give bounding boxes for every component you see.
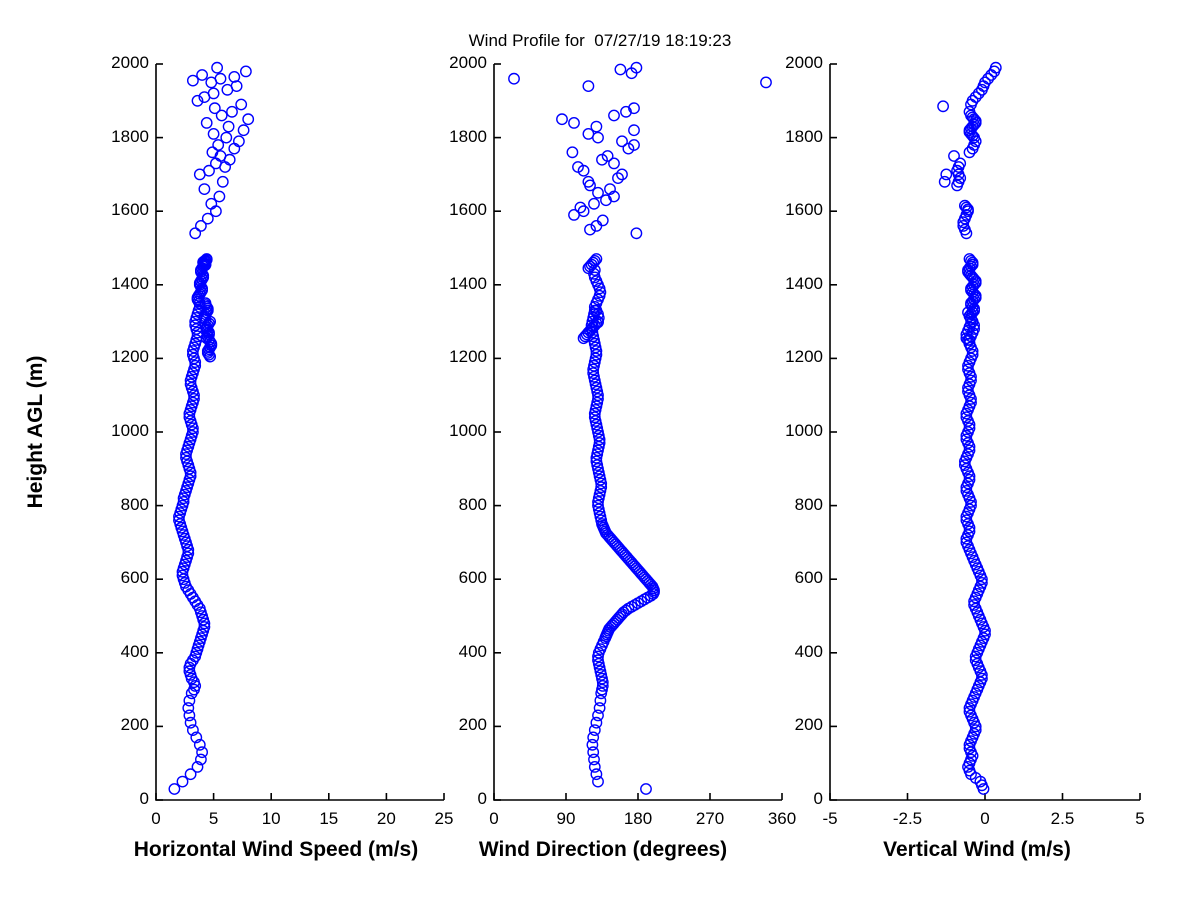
data-point — [938, 101, 948, 111]
data-point — [590, 725, 600, 735]
y-axis-label: Height AGL (m) — [24, 332, 48, 532]
y-tick-label: 1600 — [768, 200, 823, 220]
data-point — [593, 132, 603, 142]
y-tick-label: 1800 — [768, 127, 823, 147]
data-point — [949, 151, 959, 161]
data-point — [197, 70, 207, 80]
y-tick-label: 400 — [768, 642, 823, 662]
data-point — [609, 110, 619, 120]
data-point — [223, 121, 233, 131]
data-point — [212, 62, 222, 72]
data-point — [184, 695, 194, 705]
data-point — [218, 177, 228, 187]
x-tick-label: 0 — [454, 809, 534, 829]
x-tick-label: 90 — [526, 809, 606, 829]
y-tick-label: 1000 — [94, 421, 149, 441]
y-tick-label: 200 — [432, 715, 487, 735]
x-axis-label-panel-3: Vertical Wind (m/s) — [812, 838, 1142, 862]
data-point — [583, 81, 593, 91]
data-point — [593, 776, 603, 786]
data-point — [598, 215, 608, 225]
y-tick-label: 2000 — [768, 53, 823, 73]
y-tick-label: 1200 — [432, 347, 487, 367]
data-point — [557, 114, 567, 124]
data-point — [567, 147, 577, 157]
x-tick-label: 5 — [1100, 809, 1180, 829]
y-tick-label: 0 — [768, 789, 823, 809]
data-point — [940, 177, 950, 187]
y-tick-label: 600 — [768, 568, 823, 588]
x-tick-label: 180 — [598, 809, 678, 829]
data-point — [591, 121, 601, 131]
data-point — [199, 184, 209, 194]
data-point — [615, 64, 625, 74]
data-point — [211, 206, 221, 216]
x-tick-label: 2.5 — [1023, 809, 1103, 829]
y-tick-label: 400 — [432, 642, 487, 662]
data-point — [631, 228, 641, 238]
y-tick-label: 2000 — [94, 53, 149, 73]
data-point — [593, 710, 603, 720]
data-point — [588, 732, 598, 742]
y-tick-label: 200 — [94, 715, 149, 735]
data-point — [241, 66, 251, 76]
data-point — [236, 99, 246, 109]
data-point — [591, 718, 601, 728]
y-tick-label: 1400 — [768, 274, 823, 294]
axis-spine — [494, 64, 782, 800]
y-tick-label: 1000 — [432, 421, 487, 441]
data-point — [190, 228, 200, 238]
y-tick-label: 2000 — [432, 53, 487, 73]
data-point — [229, 72, 239, 82]
data-point — [238, 125, 248, 135]
panel-2 — [494, 62, 782, 800]
data-point — [208, 88, 218, 98]
x-tick-label: 270 — [670, 809, 750, 829]
x-tick-label: 0 — [945, 809, 1025, 829]
y-tick-label: 1600 — [432, 200, 487, 220]
x-tick-label: -5 — [790, 809, 870, 829]
x-axis-label-panel-1: Horizontal Wind Speed (m/s) — [96, 838, 456, 862]
panel-1 — [156, 62, 444, 800]
data-point — [591, 769, 601, 779]
data-point — [185, 718, 195, 728]
data-point — [215, 74, 225, 84]
series-markers — [938, 62, 1001, 794]
data-point — [197, 747, 207, 757]
y-tick-label: 1400 — [432, 274, 487, 294]
data-point — [941, 169, 951, 179]
panel-3 — [830, 62, 1140, 800]
data-point — [227, 107, 237, 117]
y-tick-label: 1200 — [94, 347, 149, 367]
data-point — [589, 199, 599, 209]
series-markers — [169, 62, 253, 794]
y-tick-label: 1000 — [768, 421, 823, 441]
y-tick-label: 600 — [94, 568, 149, 588]
wind-profile-figure: Wind Profile for 07/27/19 18:19:23 Heigh… — [0, 0, 1200, 900]
data-point — [208, 129, 218, 139]
data-point — [569, 118, 579, 128]
y-tick-label: 800 — [768, 495, 823, 515]
x-axis-label-panel-2: Wind Direction (degrees) — [438, 838, 768, 862]
figure-title: Wind Profile for 07/27/19 18:19:23 — [0, 31, 1200, 51]
y-tick-label: 1200 — [768, 347, 823, 367]
data-point — [243, 114, 253, 124]
y-tick-label: 400 — [94, 642, 149, 662]
y-tick-label: 1800 — [94, 127, 149, 147]
data-point — [641, 784, 651, 794]
y-tick-label: 0 — [432, 789, 487, 809]
x-tick-label: -2.5 — [868, 809, 948, 829]
data-point — [211, 158, 221, 168]
plot-canvas — [0, 0, 1200, 900]
y-tick-label: 600 — [432, 568, 487, 588]
data-point — [761, 77, 771, 87]
y-tick-label: 800 — [94, 495, 149, 515]
y-tick-label: 0 — [94, 789, 149, 809]
y-tick-label: 800 — [432, 495, 487, 515]
y-tick-label: 1400 — [94, 274, 149, 294]
data-point — [202, 118, 212, 128]
data-point — [188, 592, 198, 602]
data-point — [629, 125, 639, 135]
data-point — [583, 177, 593, 187]
y-tick-label: 1600 — [94, 200, 149, 220]
data-point — [509, 74, 519, 84]
axis-spine — [830, 64, 1140, 800]
y-tick-label: 1800 — [432, 127, 487, 147]
data-point — [221, 132, 231, 142]
data-point — [214, 191, 224, 201]
data-point — [617, 136, 627, 146]
series-markers — [509, 62, 771, 794]
data-point — [210, 103, 220, 113]
y-tick-label: 200 — [768, 715, 823, 735]
